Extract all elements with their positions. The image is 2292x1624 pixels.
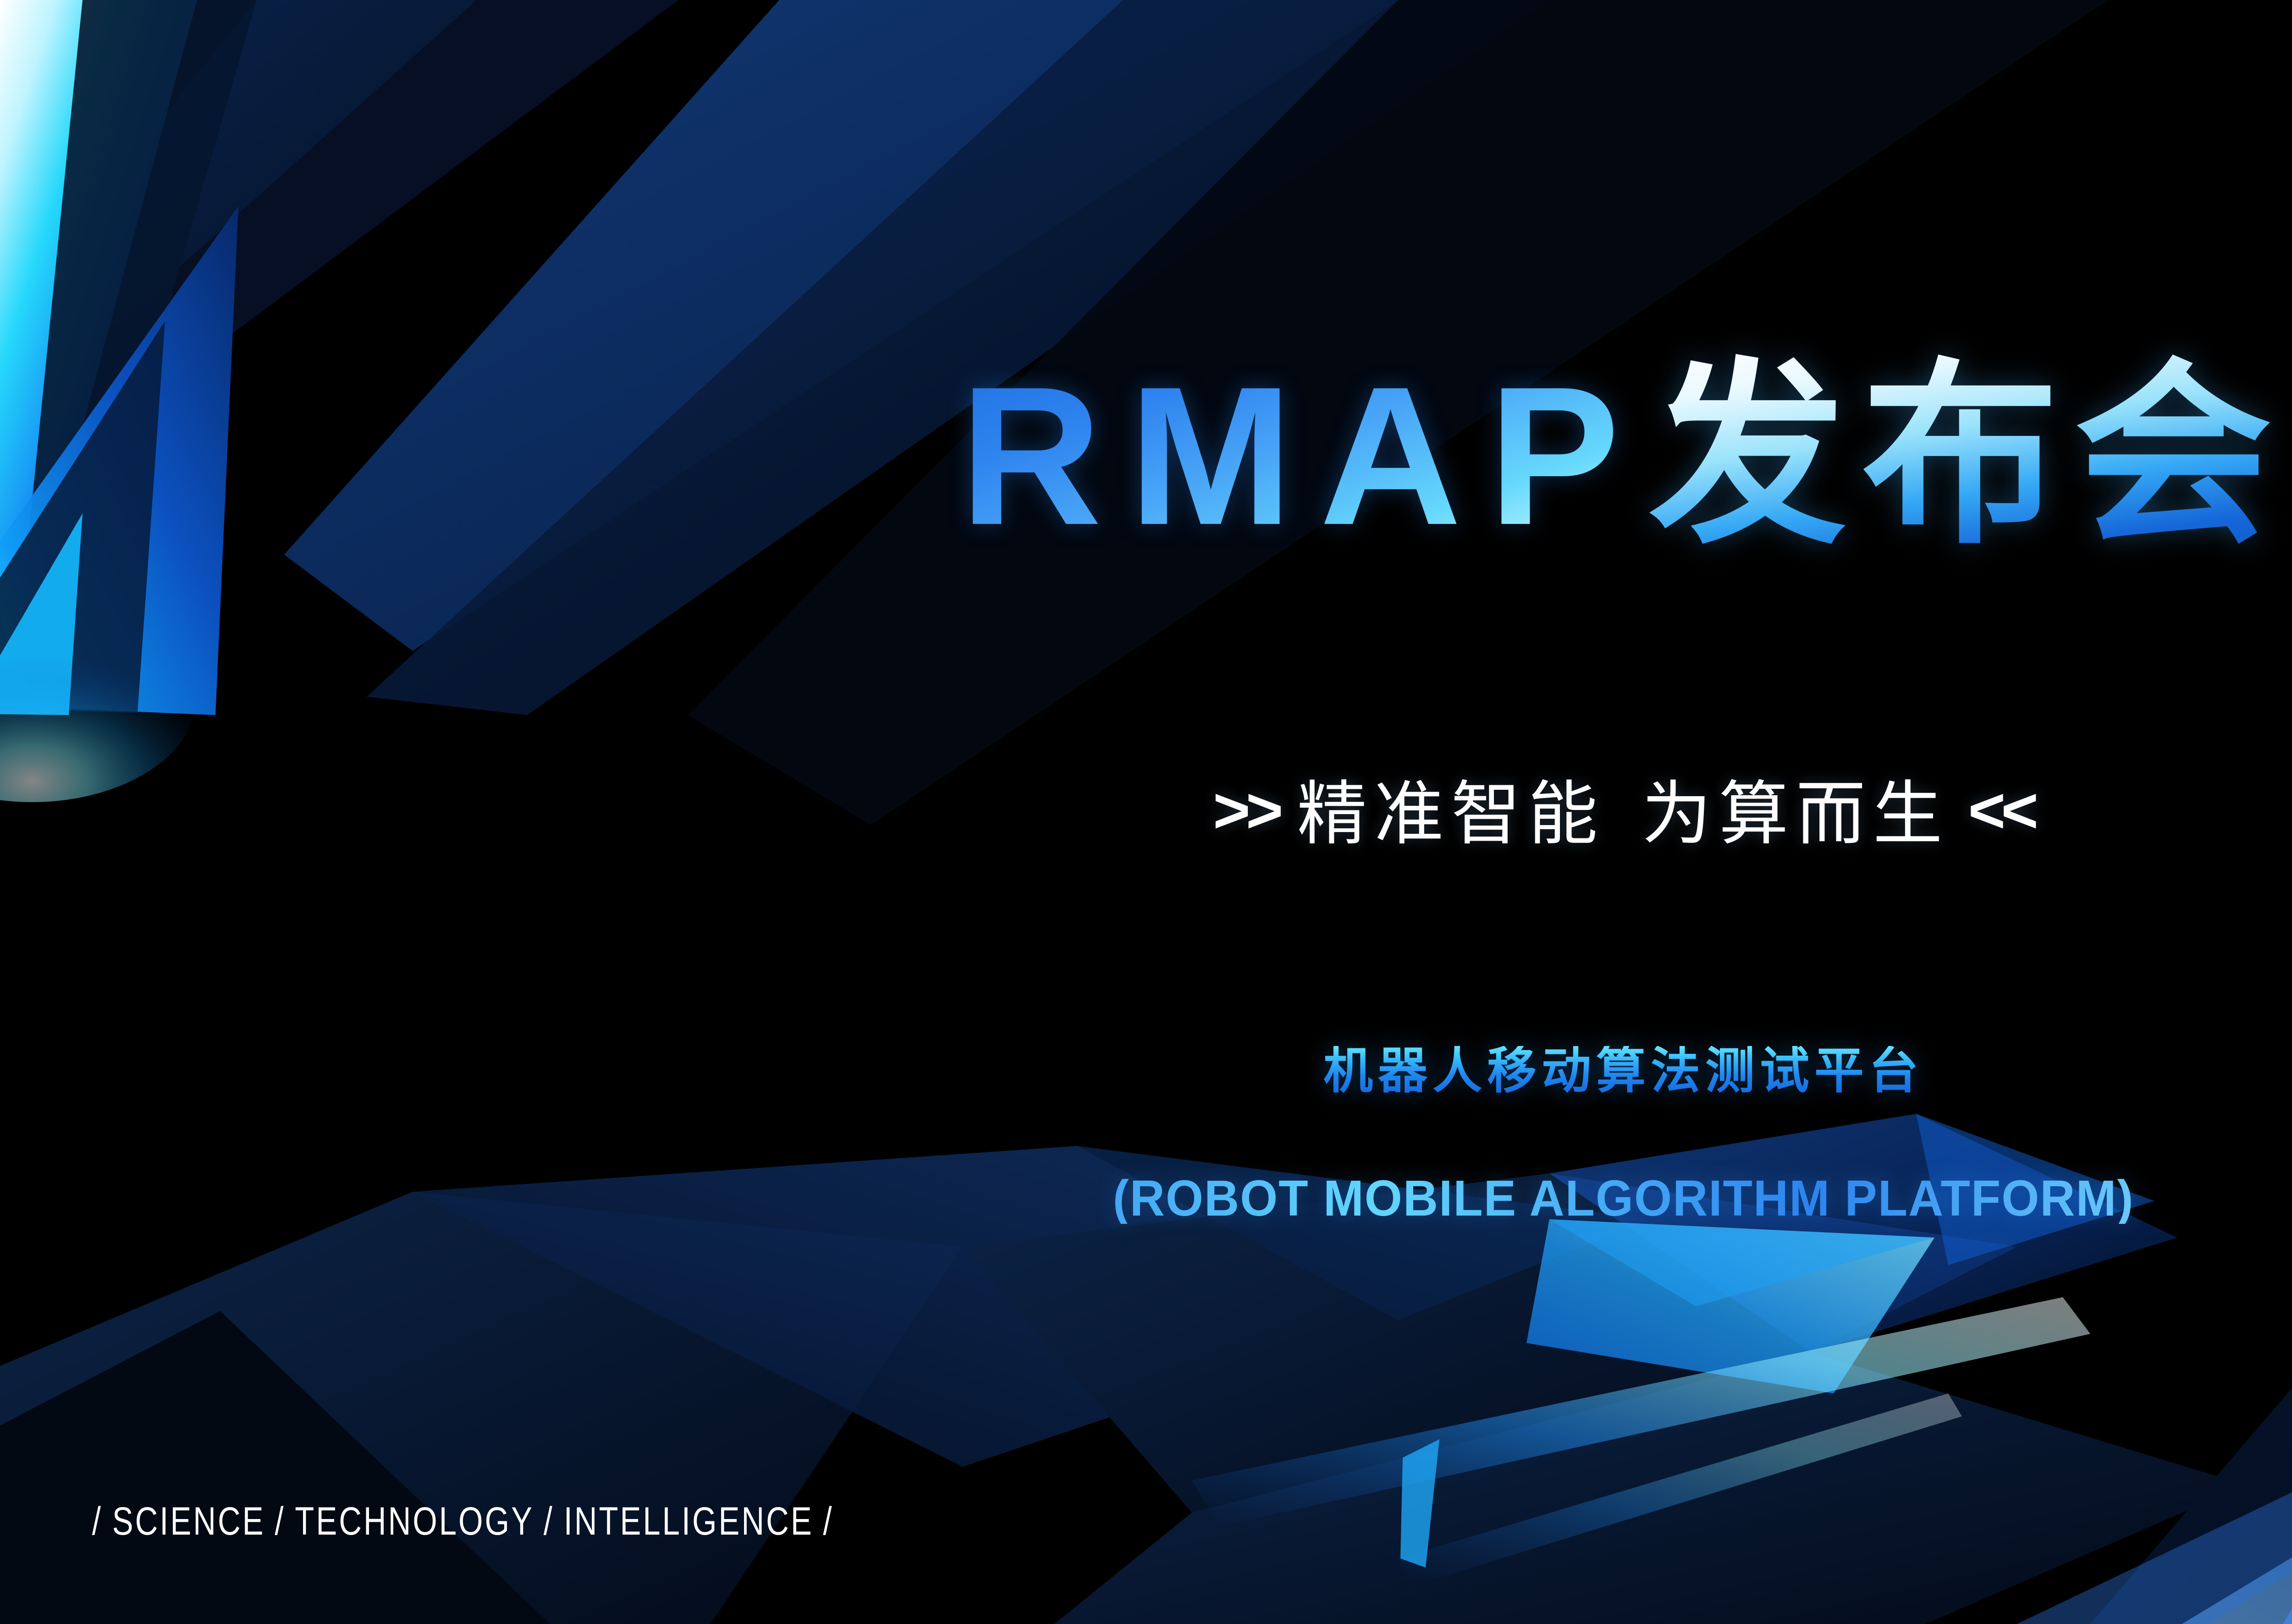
- footer-slash-3: /: [544, 1499, 554, 1543]
- footer-keywords: /SCIENCE/TECHNOLOGY/INTELLIGENCE/: [83, 1499, 843, 1544]
- footer-item-science: SCIENCE: [112, 1499, 265, 1543]
- tagline-left-chevron: >>: [1213, 774, 1279, 846]
- footer-item-intelligence: INTELLIGENCE: [564, 1499, 814, 1543]
- title-cjk: 发布会: [1649, 346, 2287, 567]
- tagline-text-a: 精准智能: [1297, 775, 1605, 853]
- tagline-text-b: 为算而生: [1642, 775, 1950, 853]
- title-latin: RMAP: [959, 346, 1646, 567]
- footer-slash-2: /: [275, 1499, 285, 1543]
- tagline: >>精准智能为算而生<<: [0, 779, 2292, 849]
- subtitle-en: (ROBOT MOBILE ALGORITHM PLATFORM): [65, 1173, 2292, 1224]
- page-title: RMAP发布会: [0, 346, 2292, 567]
- event-poster: 上海机器人产业技术研究院 SHANGHAI ROBOT INDUSTRIAL T…: [0, 0, 2292, 1624]
- footer-slash-4: /: [823, 1499, 834, 1543]
- footer-slash-1: /: [92, 1499, 103, 1543]
- tagline-right-chevron: <<: [1968, 774, 2034, 846]
- footer-item-technology: TECHNOLOGY: [295, 1499, 534, 1543]
- subtitle-cn: 机器人移动算法测试平台: [0, 1046, 2292, 1096]
